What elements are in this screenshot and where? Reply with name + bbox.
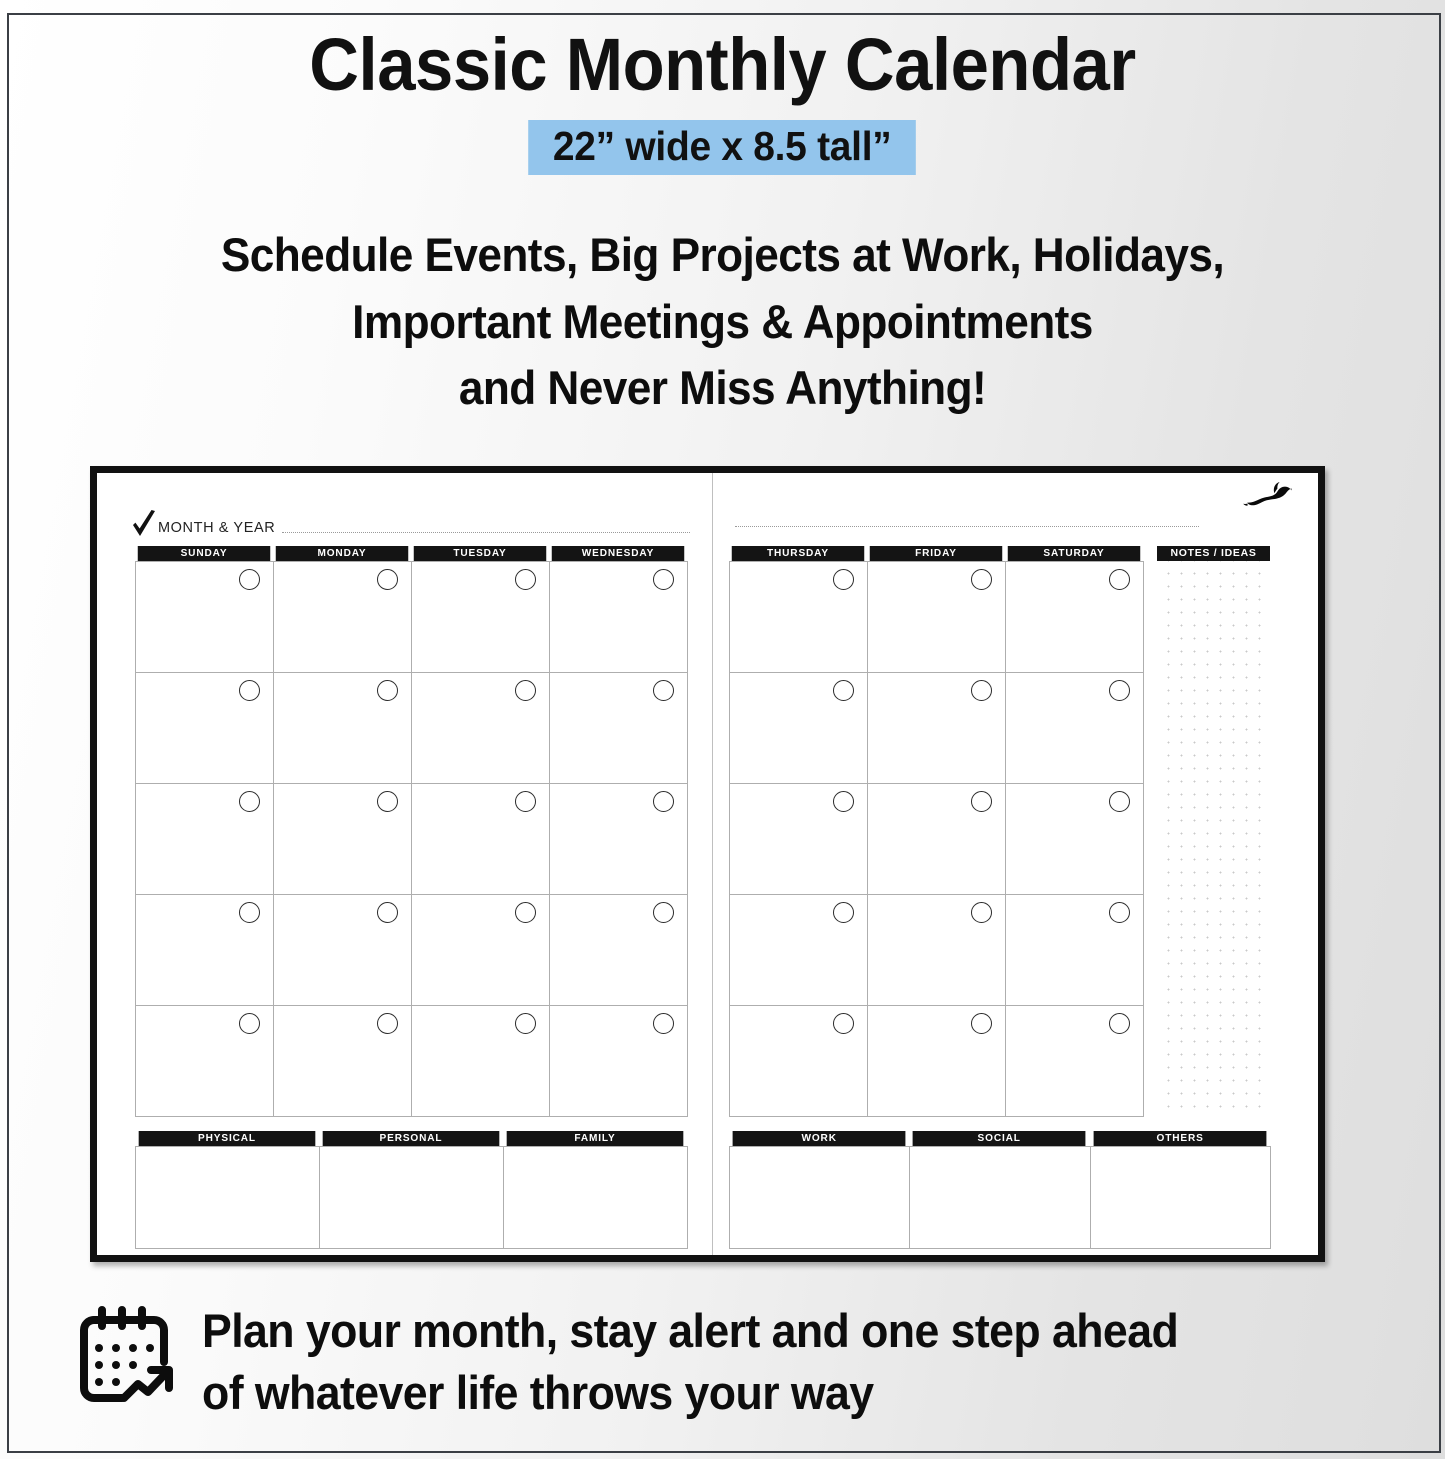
date-number-circle[interactable]	[515, 569, 536, 590]
calendar-day-cell[interactable]	[136, 784, 274, 895]
date-number-circle[interactable]	[515, 1013, 536, 1034]
date-number-circle[interactable]	[833, 902, 854, 923]
date-number-circle[interactable]	[239, 1013, 260, 1034]
date-number-circle[interactable]	[833, 791, 854, 812]
category-box-family[interactable]	[504, 1147, 688, 1249]
calendar-day-cell[interactable]	[550, 895, 688, 1006]
weekday-header-row-right: THURSDAY FRIDAY SATURDAY	[729, 546, 1143, 561]
date-number-circle[interactable]	[377, 791, 398, 812]
date-number-circle[interactable]	[833, 1013, 854, 1034]
weekday-header-monday: MONDAY	[276, 546, 408, 561]
product-marketing-image: Classic Monthly Calendar 22” wide x 8.5 …	[0, 0, 1445, 1459]
calendar-left-page: MONTH & YEAR SUNDAY MONDAY TUESDAY WEDNE…	[97, 473, 712, 1255]
date-number-circle[interactable]	[515, 902, 536, 923]
date-number-circle[interactable]	[239, 791, 260, 812]
notes-ideas-header: NOTES / IDEAS	[1157, 546, 1270, 561]
category-box-personal[interactable]	[320, 1147, 504, 1249]
footer-tagline-text: Plan your month, stay alert and one step…	[202, 1300, 1178, 1424]
footer-tagline-line-2: of whatever life throws your way	[202, 1362, 1178, 1424]
date-number-circle[interactable]	[1109, 1013, 1130, 1034]
month-year-writeline	[282, 531, 690, 533]
date-number-circle[interactable]	[971, 1013, 992, 1034]
calendar-day-cell[interactable]	[412, 562, 550, 673]
calendar-day-cell[interactable]	[868, 784, 1006, 895]
calendar-day-cell[interactable]	[550, 1006, 688, 1117]
date-number-circle[interactable]	[515, 680, 536, 701]
calendar-day-cell[interactable]	[1006, 784, 1144, 895]
calendar-day-cell[interactable]	[1006, 1006, 1144, 1117]
category-header-row-right: WORK SOCIAL OTHERS	[729, 1131, 1270, 1146]
month-year-writeline-continued	[735, 525, 1199, 527]
selling-copy-line-3: and Never Miss Anything!	[43, 355, 1401, 422]
category-header-personal: PERSONAL	[323, 1131, 500, 1146]
calendar-day-cell[interactable]	[550, 562, 688, 673]
weekday-header-friday: FRIDAY	[870, 546, 1002, 561]
date-number-circle[interactable]	[239, 680, 260, 701]
date-number-circle[interactable]	[971, 902, 992, 923]
calendar-day-cell[interactable]	[730, 784, 868, 895]
calendar-day-cell[interactable]	[274, 1006, 412, 1117]
date-number-circle[interactable]	[1109, 791, 1130, 812]
date-number-circle[interactable]	[377, 680, 398, 701]
weekday-header-tuesday: TUESDAY	[414, 546, 546, 561]
checkmark-icon	[131, 509, 157, 539]
headline-block: Classic Monthly Calendar 22” wide x 8.5 …	[0, 28, 1445, 175]
selling-copy-line-2: Important Meetings & Appointments	[43, 289, 1401, 356]
calendar-right-page: THURSDAY FRIDAY SATURDAY NOTES / IDEAS W…	[713, 473, 1319, 1255]
weekday-header-saturday: SATURDAY	[1008, 546, 1140, 561]
leaping-lion-logo-icon	[1243, 481, 1297, 529]
date-number-circle[interactable]	[1109, 902, 1130, 923]
calendar-day-cell[interactable]	[136, 895, 274, 1006]
size-badge: 22” wide x 8.5 tall”	[529, 120, 917, 175]
date-number-circle[interactable]	[515, 791, 536, 812]
calendar-day-cell[interactable]	[868, 673, 1006, 784]
calendar-day-cell[interactable]	[730, 562, 868, 673]
calendar-day-cell[interactable]	[274, 673, 412, 784]
calendar-day-cell[interactable]	[412, 784, 550, 895]
calendar-day-cell[interactable]	[136, 562, 274, 673]
calendar-day-cell[interactable]	[274, 895, 412, 1006]
selling-copy-line-1: Schedule Events, Big Projects at Work, H…	[43, 222, 1401, 289]
date-number-circle[interactable]	[971, 791, 992, 812]
calendar-day-cell[interactable]	[730, 1006, 868, 1117]
category-header-social: SOCIAL	[913, 1131, 1086, 1146]
calendar-trending-up-icon	[72, 1304, 176, 1412]
calendar-day-cell[interactable]	[730, 895, 868, 1006]
calendar-day-cell[interactable]	[136, 1006, 274, 1117]
category-header-others: OTHERS	[1093, 1131, 1266, 1146]
calendar-day-cell[interactable]	[412, 1006, 550, 1117]
date-number-circle[interactable]	[971, 569, 992, 590]
calendar-day-cell[interactable]	[274, 562, 412, 673]
calendar-day-cell[interactable]	[730, 673, 868, 784]
category-box-work[interactable]	[730, 1147, 910, 1249]
calendar-grid-left	[135, 561, 688, 1117]
calendar-day-cell[interactable]	[1006, 895, 1144, 1006]
category-header-work: WORK	[733, 1131, 906, 1146]
category-box-physical[interactable]	[136, 1147, 320, 1249]
calendar-day-cell[interactable]	[412, 895, 550, 1006]
date-number-circle[interactable]	[653, 569, 674, 590]
calendar-day-cell[interactable]	[1006, 673, 1144, 784]
category-box-social[interactable]	[910, 1147, 1090, 1249]
calendar-day-cell[interactable]	[550, 673, 688, 784]
calendar-grid-right	[729, 561, 1144, 1117]
footer-tagline-line-1: Plan your month, stay alert and one step…	[202, 1300, 1178, 1362]
date-number-circle[interactable]	[1109, 680, 1130, 701]
date-number-circle[interactable]	[1109, 569, 1130, 590]
calendar-day-cell[interactable]	[136, 673, 274, 784]
category-header-family: FAMILY	[507, 1131, 684, 1146]
calendar-day-cell[interactable]	[868, 1006, 1006, 1117]
category-header-physical: PHYSICAL	[139, 1131, 316, 1146]
calendar-spread: MONTH & YEAR SUNDAY MONDAY TUESDAY WEDNE…	[90, 466, 1325, 1262]
date-number-circle[interactable]	[239, 569, 260, 590]
weekday-header-sunday: SUNDAY	[138, 546, 270, 561]
category-body-row-right	[729, 1146, 1271, 1249]
category-box-others[interactable]	[1091, 1147, 1271, 1249]
date-number-circle[interactable]	[377, 569, 398, 590]
calendar-day-cell[interactable]	[550, 784, 688, 895]
date-number-circle[interactable]	[653, 791, 674, 812]
date-number-circle[interactable]	[239, 902, 260, 923]
date-number-circle[interactable]	[833, 680, 854, 701]
weekday-header-thursday: THURSDAY	[732, 546, 864, 561]
date-number-circle[interactable]	[653, 1013, 674, 1034]
calendar-day-cell[interactable]	[412, 673, 550, 784]
weekday-header-wednesday: WEDNESDAY	[552, 546, 684, 561]
category-header-row-left: PHYSICAL PERSONAL FAMILY	[135, 1131, 687, 1146]
footer-tagline-block: Plan your month, stay alert and one step…	[72, 1300, 1372, 1424]
month-year-field[interactable]: MONTH & YEAR	[131, 489, 690, 537]
date-number-circle[interactable]	[377, 1013, 398, 1034]
size-badge-wrap: 22” wide x 8.5 tall”	[0, 120, 1445, 175]
date-number-circle[interactable]	[833, 569, 854, 590]
date-number-circle[interactable]	[653, 902, 674, 923]
category-body-row-left	[135, 1146, 688, 1249]
page-title: Classic Monthly Calendar	[51, 28, 1395, 102]
calendar-day-cell[interactable]	[868, 562, 1006, 673]
calendar-day-cell[interactable]	[1006, 562, 1144, 673]
weekday-header-row-left: SUNDAY MONDAY TUESDAY WEDNESDAY	[135, 546, 687, 561]
calendar-day-cell[interactable]	[868, 895, 1006, 1006]
selling-copy: Schedule Events, Big Projects at Work, H…	[43, 222, 1401, 422]
month-year-label: MONTH & YEAR	[158, 520, 275, 536]
date-number-circle[interactable]	[653, 680, 674, 701]
calendar-day-cell[interactable]	[274, 784, 412, 895]
notes-ideas-panel[interactable]	[1157, 561, 1270, 1116]
date-number-circle[interactable]	[377, 902, 398, 923]
date-number-circle[interactable]	[971, 680, 992, 701]
